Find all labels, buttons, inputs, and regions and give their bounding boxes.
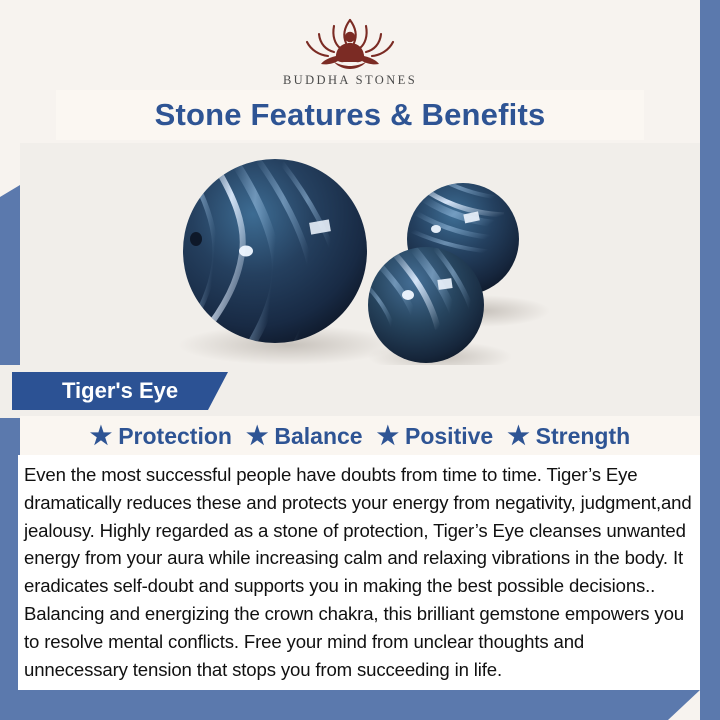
bottom-accent-bar: [0, 690, 720, 720]
star-icon: ★: [246, 424, 268, 449]
left-accent-bar: [0, 185, 20, 720]
right-accent-bar: [700, 0, 720, 720]
benefit-item-positive: ★ Positive: [377, 423, 494, 450]
product-photo: [20, 143, 700, 365]
benefit-label: Positive: [405, 423, 493, 450]
star-icon: ★: [377, 424, 399, 449]
stone-name-label: Tiger's Eye: [12, 378, 178, 404]
description-panel: Even the most successful people have dou…: [18, 455, 700, 690]
brand-header: BUDDHA STONES: [0, 0, 700, 96]
infographic-card: BUDDHA STONES Stone Features & Benefits: [0, 0, 720, 720]
star-icon: ★: [507, 424, 529, 449]
lotus-meditation-icon: [290, 14, 410, 72]
brand-name: BUDDHA STONES: [283, 73, 417, 88]
benefit-item-strength: ★ Strength: [507, 423, 630, 450]
benefit-label: Balance: [274, 423, 362, 450]
benefit-label: Protection: [118, 423, 232, 450]
description-text: Even the most successful people have dou…: [24, 461, 692, 683]
stone-name-row: Tiger's Eye: [0, 365, 700, 418]
star-icon: ★: [90, 424, 112, 449]
title-banner: Stone Features & Benefits: [56, 90, 644, 140]
benefit-item-balance: ★ Balance: [246, 423, 363, 450]
benefit-item-protection: ★ Protection: [90, 423, 232, 450]
gemstone-spheres-illustration: [20, 143, 700, 365]
benefits-row: ★ Protection ★ Balance ★ Positive ★ Stre…: [20, 416, 700, 456]
page-title: Stone Features & Benefits: [155, 97, 546, 133]
benefit-label: Strength: [536, 423, 631, 450]
stone-name-banner: Tiger's Eye: [12, 372, 228, 410]
